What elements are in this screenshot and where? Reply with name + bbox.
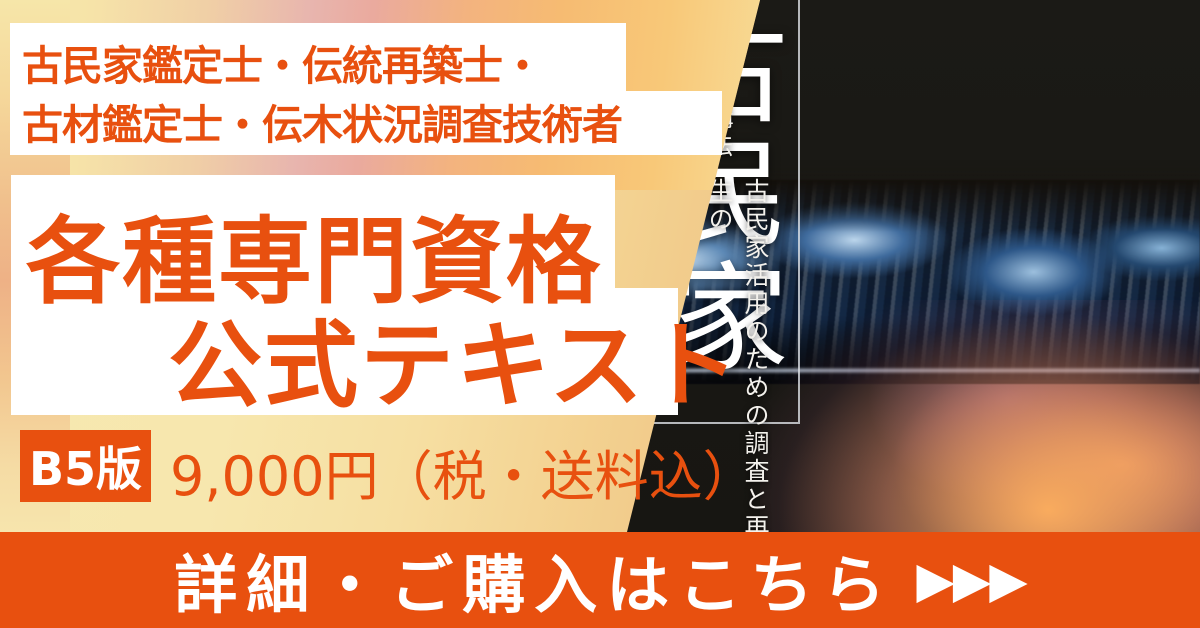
headline-text-line2: 公式テキスト [168, 290, 741, 426]
cta-button[interactable]: 詳細・ご購入はこちら ▶▶▶ [0, 532, 1200, 628]
warm-glow [760, 300, 1200, 540]
price-text: 9,000円（税・送料込） [170, 432, 757, 511]
size-badge: B5版 [20, 430, 151, 502]
qualifications-text-line2: 古材鑑定士・伝木状況調査技術者 [22, 91, 622, 151]
triple-right-arrow-icon: ▶▶▶ [916, 555, 1025, 605]
qualifications-text-line1: 古民家鑑定士・伝統再築士・ [22, 32, 542, 92]
cta-label: 詳細・ご購入はこちら [174, 535, 894, 626]
promo-banner: 古民家 伝統構法 古民家活用のための調査と再生の 古民家鑑定士・伝統再築士・ 古… [0, 0, 1200, 628]
